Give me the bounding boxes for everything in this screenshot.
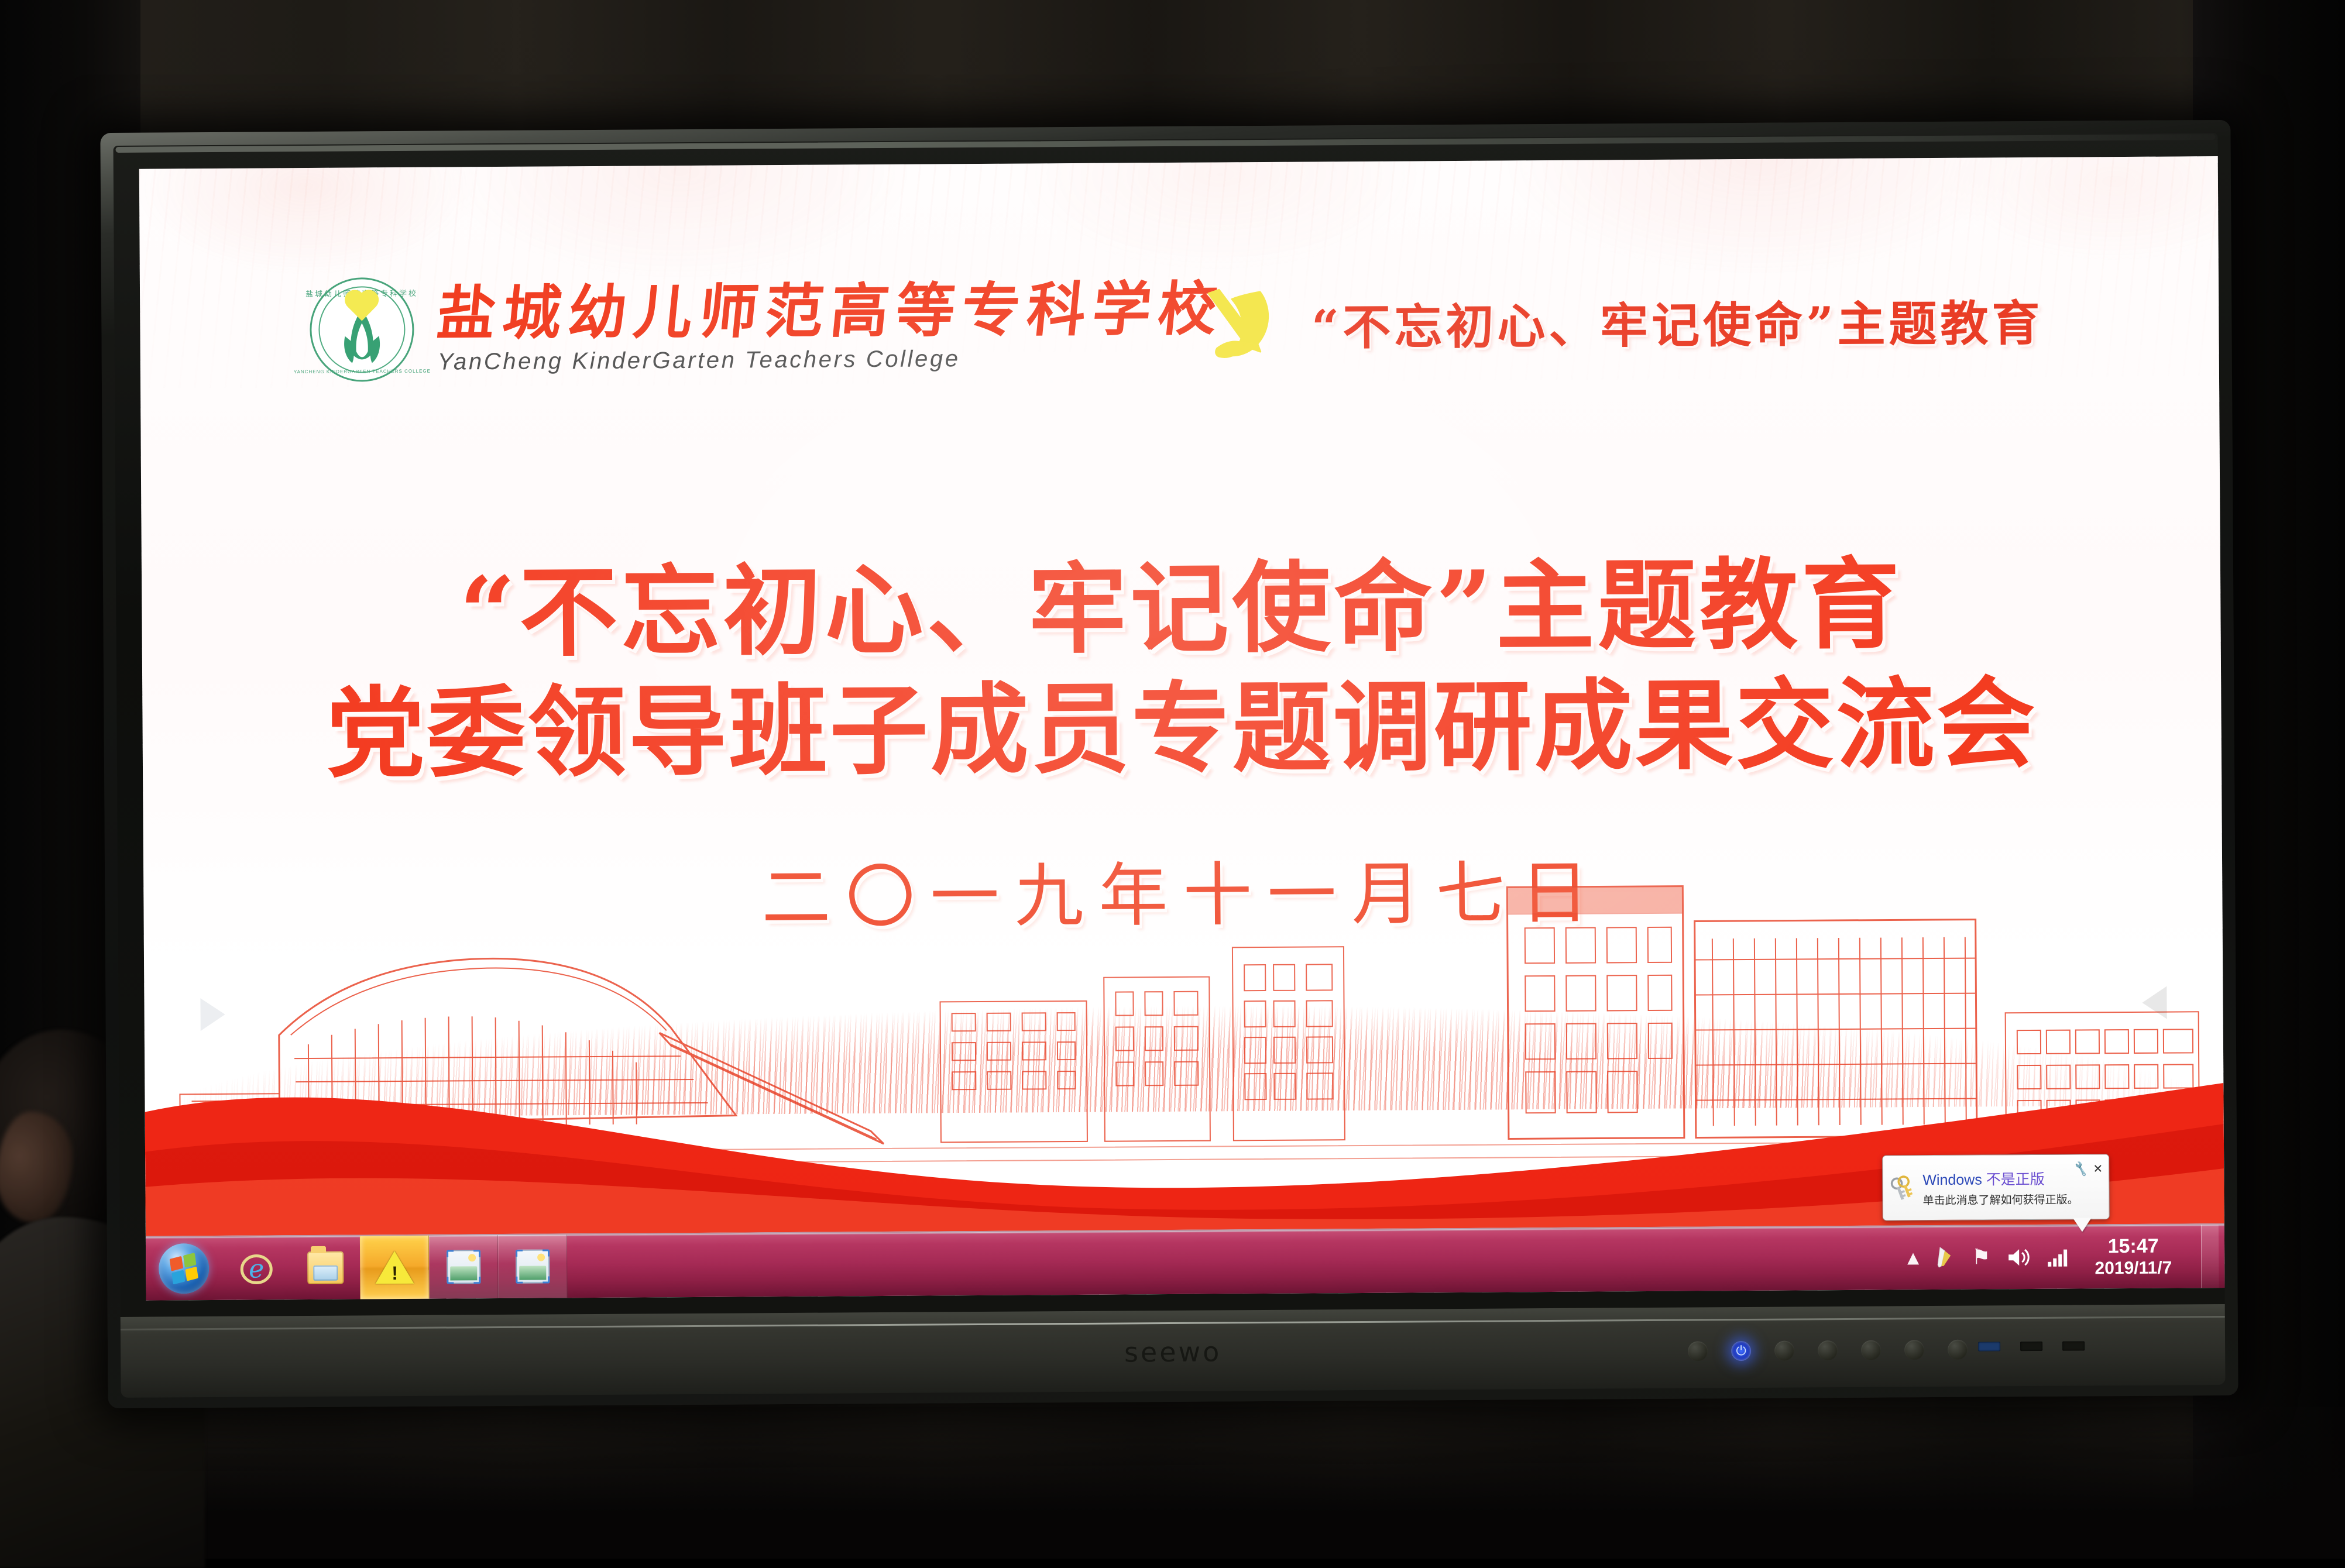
powerpoint-slide[interactable]: 盐城幼儿师范高等专科学校 YANCHENG KINDERGARTEN TEACH… bbox=[139, 156, 2224, 1236]
system-tray[interactable]: ▲ ⚑ bbox=[1907, 1225, 2225, 1290]
warning-triangle-icon bbox=[375, 1251, 414, 1284]
school-identity-block: 盐城幼儿师范高等专科学校 YANCHENG KINDERGARTEN TEACH… bbox=[310, 272, 1224, 382]
slide-title-line1: “不忘初心、牢记使命”主题教育 bbox=[142, 542, 2221, 675]
room-floor bbox=[0, 1407, 2345, 1559]
close-icon[interactable]: ✕ bbox=[2093, 1161, 2103, 1176]
slide-header: 盐城幼儿师范高等专科学校 YANCHENG KINDERGARTEN TEACH… bbox=[140, 266, 2219, 396]
taskbar-item-photo-viewer-1[interactable] bbox=[429, 1235, 499, 1299]
taskbar-item-warning-window[interactable] bbox=[360, 1236, 430, 1299]
windows-activation-notification[interactable]: Windows 不是正版 单击此消息了解如何获得正版。 🔧 ✕ bbox=[1882, 1154, 2110, 1220]
panel-power-button[interactable]: ⏻ bbox=[1731, 1341, 1751, 1361]
panel-button-down[interactable] bbox=[1861, 1340, 1881, 1360]
svg-text:e: e bbox=[249, 1254, 264, 1284]
school-name-chinese: 盐城幼儿师范高等专科学校 bbox=[434, 278, 1227, 344]
windows-flag-glyph bbox=[170, 1253, 198, 1284]
taskbar-items[interactable]: e bbox=[222, 1235, 568, 1300]
notification-text: Windows 不是正版 单击此消息了解如何获得正版。 bbox=[1922, 1167, 2068, 1208]
panel-button-vol-down[interactable] bbox=[1904, 1340, 1924, 1360]
taskbar-item-photo-viewer-2[interactable] bbox=[498, 1235, 568, 1298]
notification-title: Windows 不是正版 bbox=[1922, 1167, 2068, 1189]
picture-icon bbox=[516, 1249, 550, 1283]
slide-title-line2: 党委领导班子成员专题调研成果交流会 bbox=[142, 662, 2222, 795]
internet-explorer-icon: e bbox=[238, 1249, 275, 1287]
meeting-room-scene: 盐城幼儿师范高等专科学校 YANCHENG KINDERGARTEN TEACH… bbox=[0, 0, 2345, 1559]
start-button[interactable] bbox=[146, 1237, 222, 1301]
panel-button-menu[interactable] bbox=[1688, 1341, 1708, 1361]
hdmi-port bbox=[2020, 1342, 2042, 1351]
show-hidden-icons-icon[interactable]: ▲ bbox=[1907, 1250, 1919, 1266]
taskbar-item-internet-explorer[interactable]: e bbox=[222, 1236, 291, 1300]
cpc-emblem-icon bbox=[1199, 283, 1282, 365]
school-seal-logo: 盐城幼儿师范高等专科学校 YANCHENG KINDERGARTEN TEACH… bbox=[310, 277, 414, 382]
vga-port bbox=[2062, 1341, 2085, 1350]
notification-title-suffix: 不是正版 bbox=[1986, 1171, 2045, 1188]
panel-bottom-bezel: seewo ⏻ seewo Interactive bbox=[121, 1304, 2226, 1398]
taskbar-item-windows-explorer[interactable] bbox=[291, 1236, 360, 1299]
clock[interactable]: 15:47 2019/11/7 bbox=[2086, 1235, 2185, 1280]
volume-speaker-icon[interactable] bbox=[2007, 1247, 2030, 1268]
notification-balloon[interactable]: Windows 不是正版 单击此消息了解如何获得正版。 🔧 ✕ bbox=[1882, 1154, 2110, 1220]
school-name-block: 盐城幼儿师范高等专科学校 YanCheng KinderGarten Teach… bbox=[437, 278, 1224, 375]
school-name-english: YanCheng KinderGarten Teachers College bbox=[438, 344, 1224, 375]
show-desktop-button[interactable] bbox=[2201, 1225, 2219, 1288]
notification-title-prefix: Windows bbox=[1922, 1171, 1986, 1188]
usb-port bbox=[1978, 1342, 2000, 1351]
interactive-flat-panel: 盐城幼儿师范高等专科学校 YANCHENG KINDERGARTEN TEACH… bbox=[100, 120, 2238, 1408]
notification-controls[interactable]: 🔧 ✕ bbox=[2073, 1160, 2103, 1176]
tablet-pen-icon[interactable] bbox=[1935, 1246, 1955, 1270]
windows-logo-icon bbox=[159, 1243, 210, 1294]
campaign-slogan-text: “不忘初心、牢记使命”主题教育 bbox=[1311, 284, 2044, 358]
clock-date: 2019/11/7 bbox=[2095, 1258, 2172, 1279]
panel-button-source[interactable] bbox=[1774, 1340, 1794, 1360]
wrench-icon[interactable]: 🔧 bbox=[2072, 1160, 2090, 1178]
panel-hardware-buttons[interactable]: ⏻ bbox=[1688, 1340, 1968, 1361]
notification-body: 单击此消息了解如何获得正版。 bbox=[1922, 1191, 2068, 1208]
seal-bottom-text: YANCHENG KINDERGARTEN TEACHERS COLLEGE bbox=[294, 369, 431, 374]
clock-time: 15:47 bbox=[2095, 1235, 2172, 1258]
network-signal-icon[interactable] bbox=[2047, 1247, 2070, 1268]
panel-port-row bbox=[1978, 1341, 2085, 1351]
panel-button-vol-up[interactable] bbox=[1948, 1340, 1968, 1360]
folder-icon bbox=[307, 1251, 344, 1284]
slideshow-next-arrow[interactable] bbox=[200, 998, 225, 1031]
picture-icon bbox=[447, 1250, 480, 1284]
keys-icon bbox=[1890, 1174, 1917, 1201]
slideshow-prev-arrow[interactable] bbox=[2142, 986, 2167, 1019]
bezel-hairline bbox=[121, 1316, 2225, 1330]
windows-taskbar[interactable]: e bbox=[146, 1223, 2225, 1301]
action-center-flag-icon[interactable]: ⚑ bbox=[1972, 1247, 1991, 1268]
campaign-slogan-block: “不忘初心、牢记使命”主题教育 bbox=[1199, 278, 2044, 365]
balloon-tail bbox=[2073, 1218, 2092, 1232]
panel-button-up[interactable] bbox=[1818, 1340, 1838, 1360]
panel-screen: 盐城幼儿师范高等专科学校 YANCHENG KINDERGARTEN TEACH… bbox=[139, 156, 2225, 1301]
